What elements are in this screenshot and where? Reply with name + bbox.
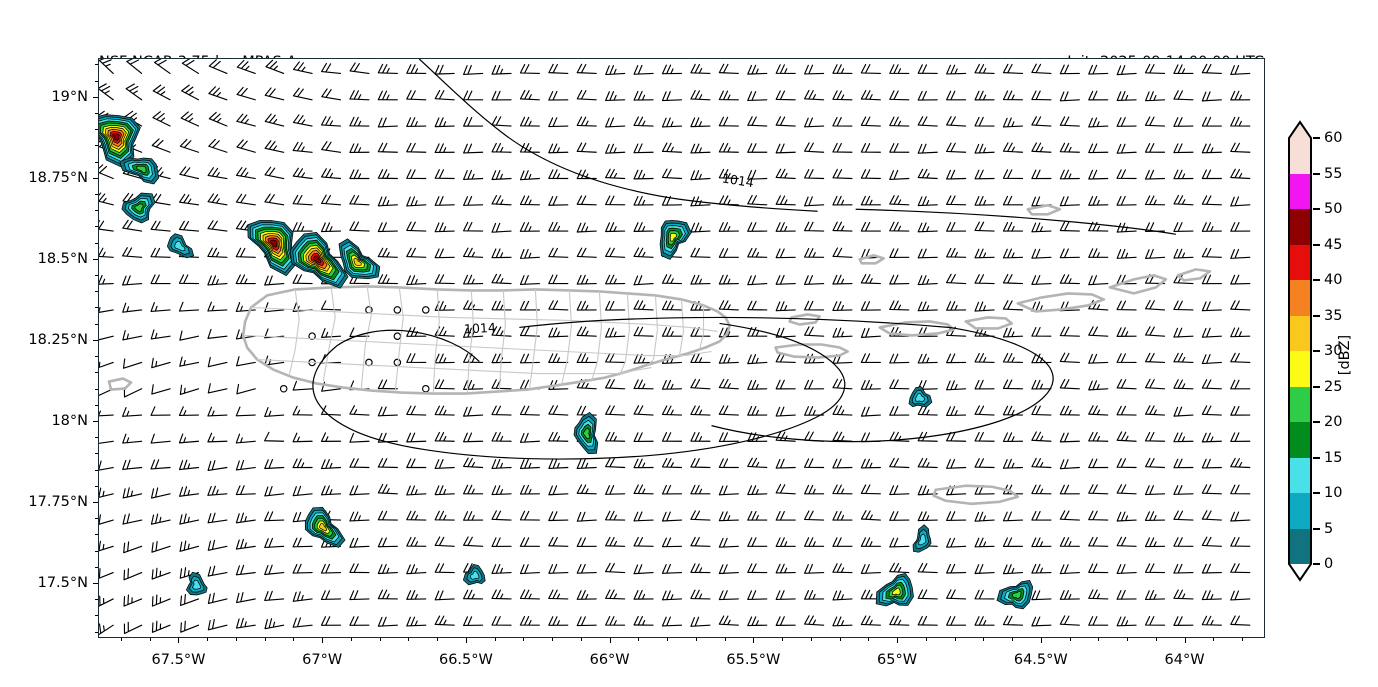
wind-barb	[407, 170, 426, 179]
wind-barb	[805, 511, 824, 520]
wind-barb	[662, 591, 681, 600]
wind-barb-calm	[423, 307, 429, 313]
wind-barb	[378, 511, 397, 520]
wind-barb	[975, 590, 994, 599]
wind-barb	[549, 197, 568, 206]
wind-barb	[151, 330, 170, 339]
wind-barb	[435, 616, 454, 625]
wind-barb	[947, 407, 966, 416]
wind-barb	[350, 617, 369, 626]
wind-barb	[1089, 65, 1108, 74]
wind-barb	[634, 380, 653, 389]
wind-barb	[719, 406, 738, 415]
wind-barb	[464, 248, 483, 257]
wind-barb	[123, 331, 142, 340]
x-axis-minor-tick	[523, 638, 524, 641]
map-plot-area[interactable]: 1014 1014	[98, 58, 1265, 638]
wind-barb	[833, 617, 852, 626]
wind-barb	[691, 459, 710, 468]
wind-barb	[918, 169, 937, 178]
wind-barb	[1146, 458, 1165, 467]
wind-barb	[407, 354, 426, 363]
wind-barb	[776, 196, 795, 205]
wind-barb	[606, 563, 625, 572]
wind-barb	[293, 406, 312, 415]
wind-barb	[861, 380, 880, 389]
wind-barb	[1032, 143, 1051, 152]
colorbar-tick	[1313, 315, 1320, 317]
wind-barb	[293, 275, 312, 284]
wind-barb	[1202, 223, 1221, 232]
wind-barb	[237, 618, 256, 628]
wind-barb	[293, 223, 312, 232]
wind-barb	[123, 276, 142, 285]
wind-barb	[152, 385, 170, 394]
wind-barb	[890, 354, 909, 363]
wind-barb	[1117, 170, 1136, 179]
x-axis-tick	[610, 638, 611, 643]
wind-barb	[1003, 565, 1022, 574]
wind-barb	[662, 380, 681, 389]
wind-barb	[350, 63, 369, 73]
wind-barb	[1145, 170, 1164, 179]
wind-barb	[464, 590, 483, 599]
x-axis-minor-tick	[840, 638, 841, 641]
colorbar-tick-label: 40	[1324, 272, 1342, 288]
wind-barb	[321, 301, 340, 310]
wind-barb	[378, 248, 397, 257]
wind-barb	[918, 354, 937, 363]
wind-barb	[975, 565, 994, 574]
y-axis-tick	[93, 421, 98, 422]
y-axis-minor-tick	[95, 324, 98, 325]
wind-barb	[1032, 432, 1051, 441]
colorbar-tick	[1313, 386, 1320, 388]
wind-barb	[691, 617, 710, 626]
wind-barb	[1231, 66, 1250, 75]
wind-barb	[890, 380, 909, 389]
wind-barb	[152, 139, 170, 152]
y-axis-minor-tick	[95, 226, 98, 227]
colorbar-tick	[1313, 244, 1320, 246]
wind-barb	[236, 434, 255, 443]
wind-barb	[435, 118, 454, 127]
wind-barb	[464, 617, 483, 626]
wind-barb	[776, 380, 795, 389]
wind-barb	[520, 459, 539, 468]
wind-barb	[662, 328, 681, 337]
wind-barb	[719, 565, 738, 574]
wind-barb	[776, 65, 795, 74]
y-axis-tick	[93, 259, 98, 260]
wind-barb	[1032, 591, 1051, 600]
wind-barb	[1231, 485, 1250, 494]
x-axis-minor-tick	[638, 638, 639, 641]
wind-barb	[975, 222, 994, 231]
x-axis-tick	[466, 638, 467, 643]
wind-barb	[1174, 538, 1193, 547]
x-axis-minor-tick	[495, 638, 496, 641]
wind-barb	[322, 89, 341, 100]
wind-barb	[378, 64, 397, 73]
wind-barb	[520, 276, 539, 285]
wind-barb	[492, 565, 511, 574]
wind-barb	[180, 357, 199, 366]
wind-barb	[464, 485, 483, 494]
wind-barb	[237, 114, 255, 126]
slp-contour-north	[419, 59, 817, 211]
wind-barb	[1202, 275, 1221, 284]
wind-barb	[435, 354, 454, 363]
wind-barb	[719, 433, 738, 442]
wind-barb	[975, 433, 994, 442]
wind-barb	[918, 65, 937, 74]
wind-barb	[1202, 248, 1221, 257]
wind-barb	[1231, 458, 1250, 467]
wind-barb	[861, 196, 880, 205]
wind-barb	[748, 223, 767, 232]
wind-barb	[577, 223, 596, 232]
x-axis-minor-tick	[983, 638, 984, 641]
wind-barb	[947, 564, 966, 573]
wind-barb	[634, 170, 653, 179]
wind-barb	[662, 92, 681, 101]
wind-barb	[435, 170, 454, 179]
wind-barb-calm	[394, 333, 400, 339]
wind-barb	[1089, 354, 1108, 363]
wind-barb	[606, 432, 625, 441]
wind-barb	[1231, 564, 1250, 573]
wind-barb	[918, 117, 937, 126]
wind-barb	[1060, 565, 1079, 574]
wind-barb	[181, 621, 199, 632]
wind-barb	[1174, 91, 1193, 100]
wind-barb	[153, 85, 170, 100]
wind-barb	[890, 196, 909, 205]
wind-barb	[719, 223, 738, 232]
wind-barb	[464, 275, 483, 284]
wind-barb	[606, 223, 625, 232]
wind-barb	[180, 385, 198, 394]
wind-barb	[350, 591, 369, 600]
colorbar[interactable]	[1288, 121, 1312, 581]
wind-barb	[805, 538, 824, 547]
wind-barb	[407, 143, 426, 152]
wind-barb	[577, 406, 596, 415]
wind-barb	[1003, 91, 1022, 100]
wind-barb	[208, 358, 227, 367]
wind-barb	[123, 460, 142, 469]
wind-barb	[1032, 458, 1051, 467]
wind-barb	[861, 91, 880, 100]
wind-barb	[1174, 170, 1193, 179]
wind-barb	[805, 65, 824, 74]
wind-barb	[208, 276, 227, 285]
colorbar-tick-label: 35	[1324, 308, 1342, 324]
wind-barb	[127, 59, 142, 73]
wind-barb	[719, 512, 738, 521]
wind-barb	[1202, 380, 1221, 389]
wind-barb	[805, 90, 824, 99]
wind-barb	[918, 616, 937, 625]
wind-barb	[634, 223, 653, 232]
wind-barb	[123, 434, 142, 443]
wind-barb	[947, 65, 966, 74]
colorbar-tick-label: 25	[1324, 379, 1342, 395]
wind-barb	[151, 407, 170, 416]
wind-barb	[1146, 249, 1165, 258]
wind-barb	[606, 248, 625, 257]
wind-barb	[861, 144, 880, 153]
colorbar-tick-label: 5	[1324, 521, 1333, 537]
y-axis-minor-tick	[95, 551, 98, 552]
wind-barb	[1060, 460, 1079, 469]
wind-barb	[321, 460, 340, 469]
wind-barb	[577, 512, 596, 521]
wind-barb	[350, 196, 369, 205]
wind-barb	[776, 249, 795, 258]
wind-barb	[265, 303, 284, 312]
wind-barb	[1174, 223, 1193, 232]
x-axis-minor-tick	[293, 638, 294, 641]
wind-barb	[492, 171, 511, 180]
wind-barb	[321, 617, 340, 626]
wind-barb	[890, 170, 909, 179]
wind-barb	[1117, 92, 1136, 101]
wind-barb	[1032, 276, 1051, 285]
wind-barb	[833, 512, 852, 521]
wind-barb	[691, 379, 710, 388]
wind-barb	[208, 168, 227, 179]
wind-barb	[719, 91, 738, 100]
wind-barb	[1060, 406, 1079, 415]
wind-barb	[890, 249, 909, 258]
y-axis-minor-tick	[95, 243, 98, 244]
wind-barb	[124, 542, 142, 553]
x-axis-minor-tick	[955, 638, 956, 641]
wind-barb	[918, 458, 937, 467]
wind-barb	[237, 357, 256, 366]
wind-barb	[378, 380, 397, 389]
wind-barb	[1174, 486, 1193, 495]
wind-barb	[861, 511, 880, 520]
wind-barb	[99, 624, 113, 636]
mona-island-coastline	[109, 379, 131, 390]
wind-barb	[947, 538, 966, 547]
colorbar-tick-label: 55	[1324, 166, 1342, 182]
wind-barb	[293, 618, 312, 627]
wind-barb	[1202, 511, 1221, 520]
wind-barb	[99, 193, 113, 205]
y-axis-minor-tick	[95, 194, 98, 195]
wind-barb	[520, 511, 539, 520]
wind-barb	[378, 118, 397, 127]
wind-barb	[236, 486, 255, 495]
wind-barb	[1117, 196, 1136, 205]
y-axis-minor-tick	[95, 534, 98, 535]
y-axis-label: 18.25°N	[0, 332, 88, 348]
wind-barb	[719, 538, 738, 547]
wind-barb	[1174, 353, 1193, 362]
colorbar-tick-label: 60	[1324, 130, 1342, 146]
wind-barb	[975, 64, 994, 73]
wind-barb	[492, 274, 511, 283]
wind-barb	[1060, 92, 1079, 101]
wind-barb	[890, 538, 909, 547]
wind-barb	[321, 223, 340, 232]
wind-barb	[1146, 406, 1165, 415]
wind-barb	[861, 407, 880, 416]
wind-barb	[492, 301, 511, 310]
wind-barb	[833, 275, 852, 284]
wind-barb	[577, 196, 596, 205]
wind-barb	[492, 143, 511, 152]
wind-barb	[492, 511, 511, 520]
wind-barb	[520, 617, 539, 626]
wind-barb	[265, 487, 284, 496]
colorbar-tick-label: 45	[1324, 237, 1342, 253]
wind-barb	[776, 169, 795, 178]
x-axis-label: 66°W	[590, 652, 630, 668]
wind-barb	[1089, 459, 1108, 468]
wind-barb	[492, 538, 511, 547]
wind-barb	[265, 565, 284, 574]
wind-barb	[549, 91, 568, 100]
wind-barb	[805, 170, 824, 179]
wind-barb	[748, 381, 767, 390]
colorbar-tick	[1313, 421, 1320, 423]
wind-barb	[265, 141, 284, 153]
colorbar-tick	[1313, 173, 1320, 175]
wind-barb	[1117, 66, 1136, 75]
wind-barb	[1174, 617, 1193, 626]
wind-barb	[1089, 617, 1108, 626]
wind-barb	[634, 91, 653, 100]
x-axis-minor-tick	[725, 638, 726, 641]
wind-barb	[322, 195, 341, 205]
wind-barb	[208, 329, 227, 338]
wind-barb	[265, 591, 284, 600]
wind-barb	[237, 168, 256, 179]
y-axis-tick	[93, 340, 98, 341]
wind-barb	[606, 458, 625, 467]
wind-barb	[577, 485, 596, 494]
wind-barb	[350, 222, 369, 231]
wind-barb	[577, 459, 596, 468]
wind-barb	[606, 196, 625, 205]
wind-barb	[293, 142, 312, 152]
wind-barb	[350, 170, 369, 179]
wind-barb	[577, 538, 596, 547]
wind-barb	[1174, 196, 1193, 205]
cay-outline-2	[1028, 205, 1060, 214]
y-axis-minor-tick	[95, 632, 98, 633]
wind-barb	[1060, 485, 1079, 494]
wind-barb	[1060, 327, 1079, 336]
wind-barb	[124, 359, 142, 368]
wind-barb	[153, 112, 170, 126]
wind-barb	[208, 513, 227, 523]
wind-barb	[99, 165, 113, 179]
wind-barb	[520, 196, 539, 205]
wind-barb	[520, 590, 539, 599]
wind-barb	[407, 486, 426, 495]
x-axis-label: 66.5°W	[439, 652, 493, 668]
wind-barb	[691, 144, 710, 153]
colorbar-tick-label: 0	[1324, 556, 1333, 572]
colorbar-tick	[1313, 492, 1320, 494]
wind-barb	[237, 384, 255, 393]
wind-barb	[1060, 511, 1079, 520]
wind-barb	[236, 565, 255, 574]
wind-barb	[719, 379, 738, 388]
wind-barb	[719, 591, 738, 600]
wind-barb	[1231, 380, 1250, 389]
x-axis-minor-tick	[926, 638, 927, 641]
wind-barb	[947, 91, 966, 100]
x-axis-minor-tick	[782, 638, 783, 641]
x-axis-minor-tick	[1156, 638, 1157, 641]
wind-barb	[236, 539, 255, 549]
x-axis-minor-tick	[552, 638, 553, 641]
wind-barb	[99, 359, 113, 368]
wind-barb	[918, 512, 937, 521]
wind-barb	[691, 275, 710, 284]
wind-barb	[947, 617, 966, 626]
y-axis-minor-tick	[95, 129, 98, 130]
wind-barb	[350, 512, 369, 521]
wind-barb	[492, 117, 511, 126]
wind-barb	[520, 171, 539, 180]
wind-barb	[520, 433, 539, 442]
wind-barb	[577, 248, 596, 257]
wind-barb	[1089, 249, 1108, 258]
slp-contour-central-c	[712, 327, 1054, 441]
wind-barb	[975, 538, 994, 547]
wind-barb	[435, 460, 454, 469]
wind-barb	[1003, 328, 1022, 337]
wind-barb	[691, 171, 710, 180]
wind-barb	[947, 381, 966, 390]
wind-barb	[861, 170, 880, 179]
wind-barb	[890, 91, 909, 100]
wind-barb	[237, 140, 255, 152]
wind-barb	[890, 301, 909, 310]
x-axis-minor-tick	[351, 638, 352, 641]
y-axis-minor-tick	[95, 372, 98, 373]
wind-barb	[776, 302, 795, 311]
colorbar-tick	[1313, 208, 1320, 210]
wind-barb	[237, 60, 255, 73]
wind-barb	[1231, 143, 1250, 152]
wind-barb	[435, 486, 454, 495]
wind-barb	[1174, 118, 1193, 127]
wind-barb	[577, 591, 596, 600]
wind-barb	[237, 593, 256, 603]
colorbar-unit-label: [dBZ]	[1337, 335, 1353, 375]
wind-barb	[152, 595, 170, 606]
y-axis-tick	[93, 583, 98, 584]
wind-barb	[634, 617, 653, 626]
wind-barb	[719, 354, 738, 363]
wind-barb	[1117, 249, 1136, 258]
wind-barb	[748, 512, 767, 521]
wind-barb	[691, 354, 710, 363]
wind-barb	[805, 564, 824, 573]
wind-barb	[947, 223, 966, 232]
wind-barb	[748, 248, 767, 257]
wind-barb	[918, 197, 937, 206]
